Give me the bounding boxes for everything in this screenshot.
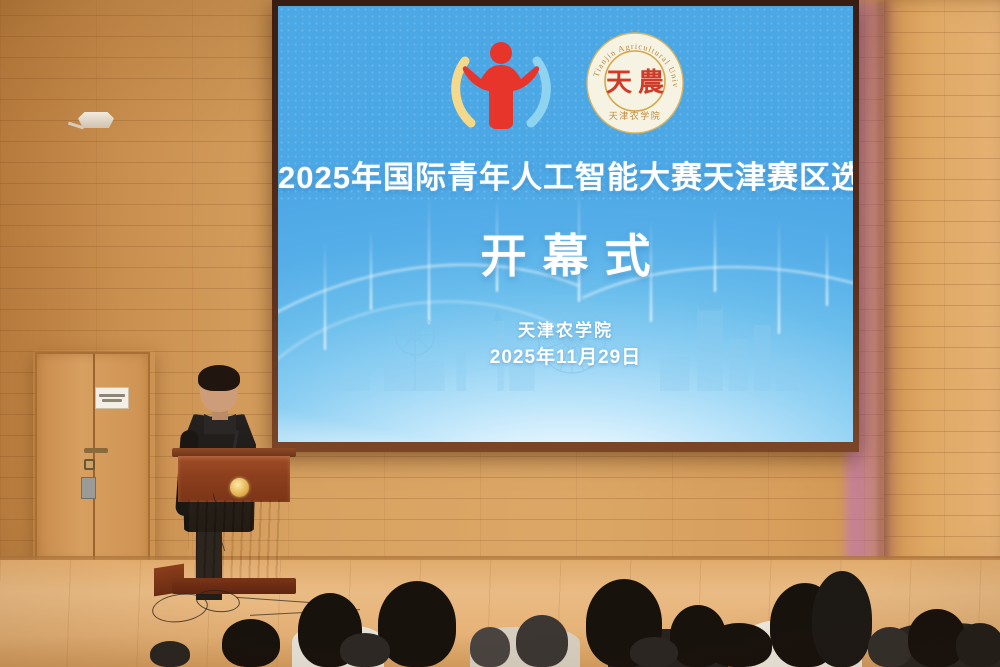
logo-row: Tianjin Agricultural University 天 農 天津农学… — [278, 24, 853, 142]
audience-head — [812, 571, 872, 667]
youth-ai-competition-logo-icon — [445, 27, 557, 139]
audience-head — [630, 637, 678, 667]
audience-head — [516, 615, 568, 667]
audience-head — [340, 633, 390, 667]
audience-head — [706, 623, 772, 667]
audience-rows — [0, 557, 1000, 667]
audience-head — [470, 627, 510, 667]
door-notice-sign — [95, 387, 129, 409]
speaker-hair — [198, 365, 240, 391]
audience-head — [222, 619, 280, 667]
screen-subtitle: 开幕式 — [278, 220, 853, 286]
auditorium-scene: Tianjin Agricultural University 天 農 天津农学… — [0, 0, 1000, 667]
side-door[interactable] — [35, 352, 150, 565]
right-wall-face — [884, 0, 1000, 600]
card-reader-icon[interactable] — [84, 459, 95, 470]
wall-light-fixture-icon — [78, 112, 114, 128]
svg-text:天: 天 — [605, 68, 631, 98]
screen-main-title: 2025年国际青年人工智能大赛天津赛区选拔赛 — [278, 152, 853, 197]
led-screen: Tianjin Agricultural University 天 農 天津农学… — [278, 6, 853, 442]
audience-head — [150, 641, 190, 667]
svg-text:天津农学院: 天津农学院 — [608, 110, 661, 121]
tianjin-agricultural-university-seal-icon: Tianjin Agricultural University 天 農 天津农学… — [583, 31, 687, 135]
screen-date: 2025年11月29日 — [278, 342, 853, 369]
podium-gold-emblem — [230, 478, 249, 497]
door-lock-box[interactable] — [81, 477, 96, 499]
podium-front-panel — [178, 456, 290, 502]
right-wall-brick-texture — [884, 0, 1000, 600]
led-screen-frame: Tianjin Agricultural University 天 農 天津农学… — [272, 0, 859, 452]
screen-organization: 天津农学院 — [278, 316, 853, 341]
door-handle[interactable] — [84, 448, 108, 453]
audience-head — [868, 627, 912, 667]
svg-text:農: 農 — [637, 68, 663, 98]
audience-head — [956, 623, 1000, 667]
